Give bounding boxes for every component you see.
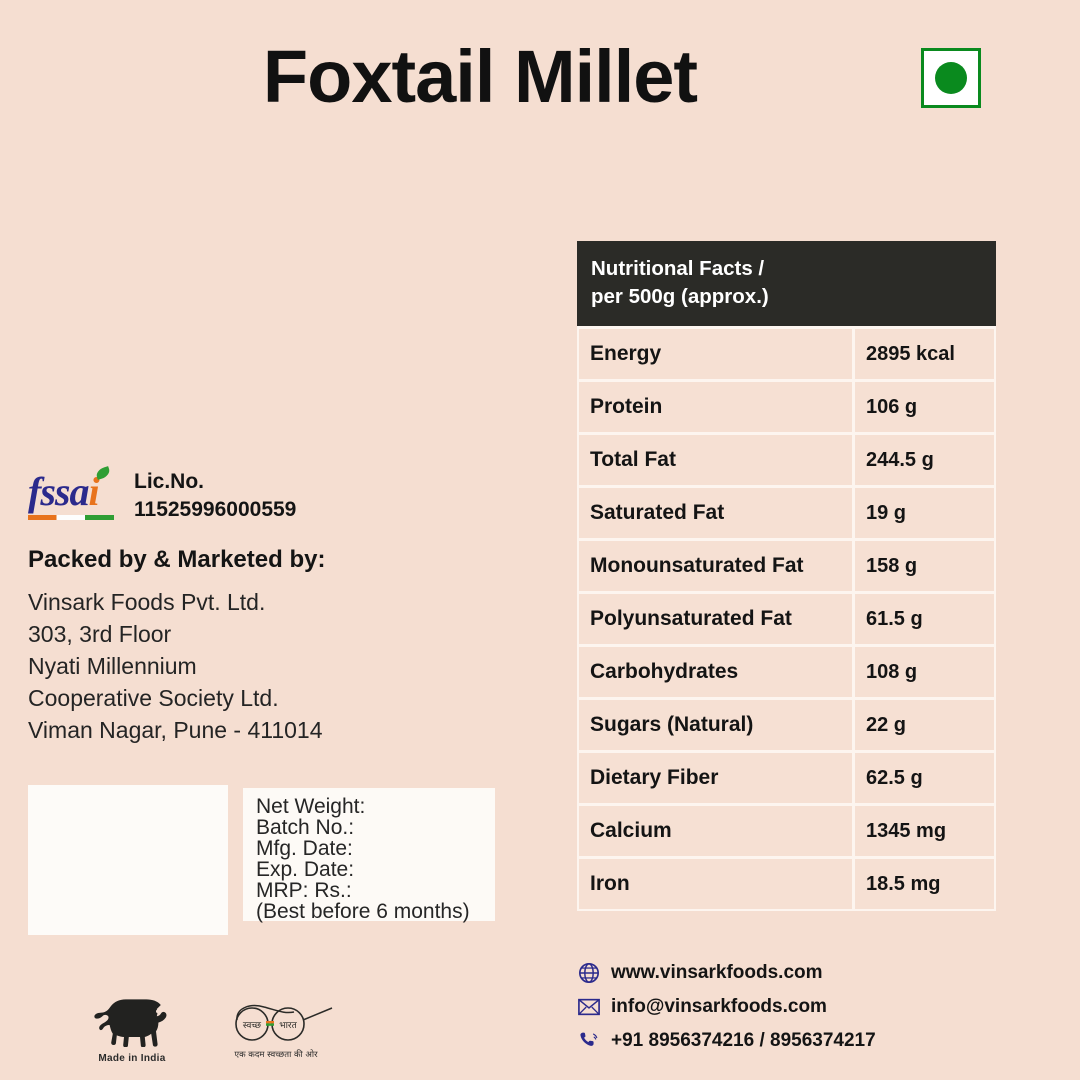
swachh-tagline: एक कदम स्वच्छता की ओर [206,1049,346,1060]
nutrition-facts-table: Nutritional Facts / per 500g (approx.) E… [577,241,996,911]
address-line: Nyati Millennium [28,650,323,682]
table-row: Carbohydrates 108 g [579,644,994,697]
table-row: Iron 18.5 mg [579,856,994,909]
tricolor-underline [28,515,114,520]
table-row: Dietary Fiber 62.5 g [579,750,994,803]
nutrient-label: Carbohydrates [579,647,855,697]
license-label: Lic.No. [134,468,296,496]
made-in-india-label: Made in India [84,1053,180,1064]
address-line: Cooperative Society Ltd. [28,682,323,714]
phone-icon [578,1030,600,1052]
fssai-license: Lic.No. 11525996000559 [134,466,296,525]
table-row: Protein 106 g [579,379,994,432]
email-text: info@vinsarkfoods.com [611,996,827,1018]
address-line: Vinsark Foods Pvt. Ltd. [28,586,323,618]
nutrient-value: 1345 mg [855,806,994,856]
nutrient-value: 18.5 mg [855,859,994,909]
envelope-icon [578,998,600,1016]
nutrient-value: 106 g [855,382,994,432]
license-number: 11525996000559 [134,496,296,524]
nutrient-label: Dietary Fiber [579,753,855,803]
nutrient-label: Protein [579,382,855,432]
detail-exp-date: Exp. Date: [256,859,495,880]
detail-mfg-date: Mfg. Date: [256,838,495,859]
nutrient-label: Calcium [579,806,855,856]
table-row: Sugars (Natural) 22 g [579,697,994,750]
vegetarian-mark-icon [921,48,981,108]
nutrition-header-line1: Nutritional Facts / [591,255,982,283]
lion-icon [84,995,180,1047]
nutrient-value: 244.5 g [855,435,994,485]
detail-net-weight: Net Weight: [256,796,495,817]
table-row: Energy 2895 kcal [579,326,994,379]
fssai-block: fssai Lic.No. 11525996000559 [28,466,296,525]
blank-label-box [28,785,228,935]
nutrition-table-header: Nutritional Facts / per 500g (approx.) [577,241,996,326]
nutrient-value: 61.5 g [855,594,994,644]
table-row: Total Fat 244.5 g [579,432,994,485]
swachh-right-text: भारत [279,1021,297,1031]
globe-icon [578,962,600,984]
contact-phone[interactable]: +91 8956374216 / 8956374217 [578,1030,876,1052]
nutrient-label: Polyunsaturated Fat [579,594,855,644]
nutrient-label: Iron [579,859,855,909]
nutrition-rows: Energy 2895 kcal Protein 106 g Total Fat… [577,326,996,911]
veg-dot [935,62,967,94]
contact-block: www.vinsarkfoods.com info@vinsarkfoods.c… [578,962,876,1052]
nutrient-value: 2895 kcal [855,329,994,379]
swachh-bharat-badge: स्वच्छ भारत एक कदम स्वच्छता की ओर [206,1000,346,1060]
nutrition-header-line2: per 500g (approx.) [591,283,982,311]
nutrient-label: Sugars (Natural) [579,700,855,750]
company-address: Vinsark Foods Pvt. Ltd. 303, 3rd Floor N… [28,586,323,746]
detail-mrp: MRP: Rs.: [256,880,495,901]
website-text: www.vinsarkfoods.com [611,962,823,984]
packed-by-heading: Packed by & Marketed by: [28,546,325,574]
detail-best-before: (Best before 6 months) [256,901,495,922]
nutrient-label: Saturated Fat [579,488,855,538]
phone-text: +91 8956374216 / 8956374217 [611,1030,876,1052]
address-line: Viman Nagar, Pune - 411014 [28,714,323,746]
contact-email[interactable]: info@vinsarkfoods.com [578,996,876,1018]
nutrient-label: Total Fat [579,435,855,485]
nutrient-label: Monounsaturated Fat [579,541,855,591]
made-in-india-badge: Made in India [84,995,180,1064]
nutrient-value: 19 g [855,488,994,538]
address-line: 303, 3rd Floor [28,618,323,650]
nutrient-label: Energy [579,329,855,379]
nutrient-value: 158 g [855,541,994,591]
table-row: Calcium 1345 mg [579,803,994,856]
detail-batch-no: Batch No.: [256,817,495,838]
swachh-left-text: स्वच्छ [243,1021,262,1031]
nutrient-value: 62.5 g [855,753,994,803]
table-row: Saturated Fat 19 g [579,485,994,538]
nutrient-value: 108 g [855,647,994,697]
fssai-logo-icon: fssai [28,470,116,524]
fssai-wordmark: fssai [28,472,99,512]
contact-website[interactable]: www.vinsarkfoods.com [578,962,876,984]
spectacles-icon: स्वच्छ भारत [206,1000,346,1046]
table-row: Monounsaturated Fat 158 g [579,538,994,591]
page-title: Foxtail Millet [0,38,960,116]
table-row: Polyunsaturated Fat 61.5 g [579,591,994,644]
product-details-box: Net Weight: Batch No.: Mfg. Date: Exp. D… [243,788,495,921]
fssai-word-main: fssa [28,469,88,514]
nutrient-value: 22 g [855,700,994,750]
